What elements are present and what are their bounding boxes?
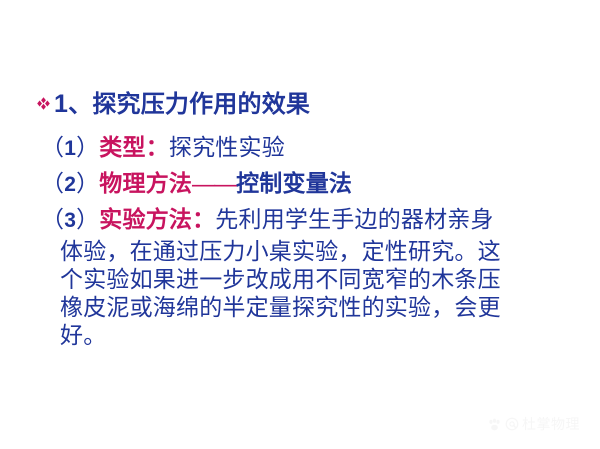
item-3-index: 3: [64, 209, 76, 232]
continuation-line-3: 橡皮泥或海绵的半定量探究性的实验，会更: [60, 296, 501, 319]
paw-print-icon: [487, 417, 502, 432]
heading-number: 1: [54, 90, 68, 118]
list-item-2: （2）物理方法——控制变量法: [41, 172, 352, 195]
heading-separator: 、: [68, 92, 92, 118]
item-3-body: 先利用学生手边的器材亲身: [215, 207, 493, 232]
list-item-3: （3）实验方法：先利用学生手边的器材亲身: [41, 208, 494, 231]
heading-text: 探究压力作用的效果: [92, 92, 310, 118]
item-2-close-paren: ）: [76, 171, 99, 196]
at-sign-icon: [505, 417, 519, 431]
watermark: 杜掌物理: [487, 414, 580, 434]
continuation-line-1: 体验，在通过压力小桌实验，定性研究。这: [60, 240, 501, 263]
item-1-close-paren: ）: [76, 135, 99, 160]
list-item-1: （1）类型：探究性实验: [41, 136, 285, 159]
item-1-label: 类型：: [99, 135, 169, 160]
item-1-body: 探究性实验: [169, 135, 285, 160]
continuation-line-2: 个实验如果进一步改成用不同宽窄的木条压: [60, 268, 501, 291]
slide-content: 1、探究压力作用的效果 （1）类型：探究性实验 （2）物理方法——控制变量法 （…: [0, 0, 600, 449]
item-3-close-paren: ）: [76, 207, 99, 232]
item-2-body: 控制变量法: [236, 171, 352, 196]
presentation-slide: 1、探究压力作用的效果 （1）类型：探究性实验 （2）物理方法——控制变量法 （…: [0, 0, 600, 449]
item-2-index: 2: [64, 173, 76, 196]
item-3-open-paren: （: [41, 207, 64, 232]
item-1-index: 1: [64, 137, 76, 160]
item-1-open-paren: （: [41, 135, 64, 160]
item-2-label: 物理方法: [99, 171, 192, 196]
watermark-text: 杜掌物理: [522, 414, 580, 434]
continuation-line-4: 好。: [60, 324, 106, 347]
diamond-cluster-bullet-icon: [36, 96, 51, 111]
item-2-open-paren: （: [41, 171, 64, 196]
item-2-dash: ——: [192, 171, 236, 196]
item-3-label: 实验方法：: [99, 207, 215, 232]
heading-line: 1、探究压力作用的效果: [36, 92, 310, 117]
